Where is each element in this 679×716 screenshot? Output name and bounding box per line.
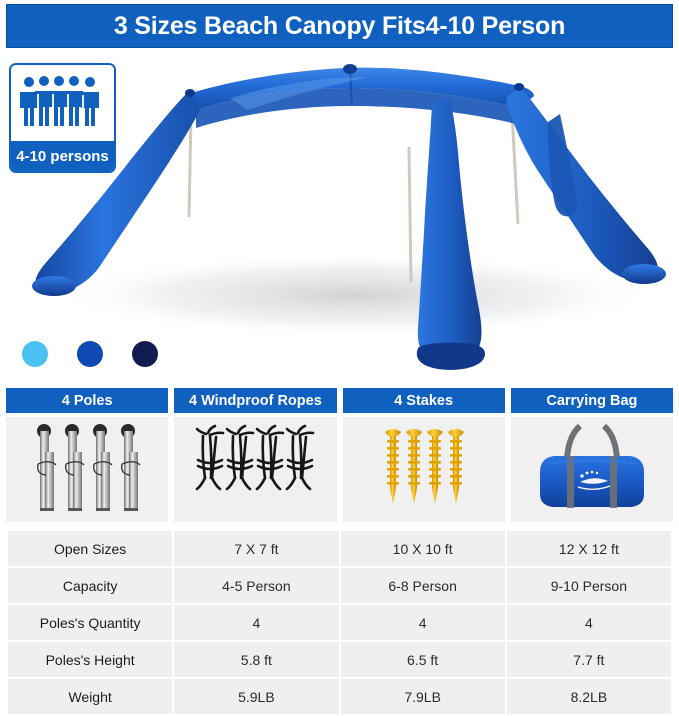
capacity-badge: 4-10 persons [9,63,116,173]
spec-cell: 5.8 ft [173,641,339,678]
color-swatch-navy-blue[interactable] [132,341,158,367]
accessory-image-poles [6,417,168,522]
spec-cell: 7 X 7 ft [173,530,339,567]
support-pole-back-left [189,115,191,217]
sand-anchor-foot-center [417,343,485,370]
spec-cell: 6.5 ft [340,641,506,678]
canopy-leg-front-center [418,100,482,361]
table-row: Poles's Quantity 4 4 4 [7,604,672,641]
telescoping-poles-icon [27,422,147,518]
accessory-image-ropes [174,417,336,522]
spec-cell: 4 [506,604,672,641]
header-banner: 3 Sizes Beach Canopy Fits4-10 Person [6,4,673,48]
canopy-grommet-left [185,89,195,97]
spec-cell: 4 [173,604,339,641]
specs-section: 4 Poles 4 Windproof Ropes 4 Stakes Carry… [6,388,673,692]
bag-strap-left [567,456,574,508]
accessory-header-ropes: 4 Windproof Ropes [174,388,336,413]
support-pole-center [409,147,411,282]
coiled-ropes-icon [190,424,320,516]
canopy-grommet-right [514,83,524,91]
spec-cell: 9-10 Person [506,567,672,604]
capacity-badge-label: 4-10 persons [11,141,114,171]
spec-cell: 10 X 10 ft [340,530,506,567]
accessory-image-bag [511,417,673,522]
product-infographic: 3 Sizes Beach Canopy Fits4-10 Person [0,0,679,698]
color-swatch-list [22,341,158,367]
sand-anchor-foot-right [622,264,666,284]
spec-row-label: Poles's Quantity [7,604,173,641]
canopy-leg-right [506,86,658,281]
spec-cell: 4 [340,604,506,641]
ground-shadow [55,253,655,337]
spec-row-label: Capacity [7,567,173,604]
specification-table: Open Sizes 7 X 7 ft 10 X 10 ft 12 X 12 f… [6,529,673,716]
bag-strap-right [610,456,617,508]
table-row: Open Sizes 7 X 7 ft 10 X 10 ft 12 X 12 f… [7,530,672,567]
page-title: 3 Sizes Beach Canopy Fits4-10 Person [114,12,565,41]
spec-cell: 4-5 Person [173,567,339,604]
accessory-image-stakes [343,417,505,522]
accessory-image-row [6,417,673,522]
spec-row-label: Open Sizes [7,530,173,567]
spec-cell: 6-8 Person [340,567,506,604]
capacity-badge-image [11,65,114,141]
spec-cell: 12 X 12 ft [506,530,672,567]
spec-cell: 7.9LB [340,678,506,715]
spec-cell: 5.9LB [173,678,339,715]
group-of-people-icon [17,74,109,132]
duffel-bag-icon [522,420,662,520]
table-row: Weight 5.9LB 7.9LB 8.2LB [7,678,672,715]
spec-cell: 8.2LB [506,678,672,715]
table-row: Poles's Height 5.8 ft 6.5 ft 7.7 ft [7,641,672,678]
accessory-header-bag: Carrying Bag [511,388,673,413]
spec-row-label: Weight [7,678,173,715]
spec-cell: 7.7 ft [506,641,672,678]
screw-stakes-icon [379,426,469,514]
accessory-header-poles: 4 Poles [6,388,168,413]
table-row: Capacity 4-5 Person 6-8 Person 9-10 Pers… [7,567,672,604]
accessory-header-row: 4 Poles 4 Windproof Ropes 4 Stakes Carry… [6,388,673,413]
color-swatch-light-blue[interactable] [22,341,48,367]
color-swatch-royal-blue[interactable] [77,341,103,367]
spec-row-label: Poles's Height [7,641,173,678]
canopy-peak-cap [343,64,357,74]
accessory-header-stakes: 4 Stakes [343,388,505,413]
sand-anchor-foot-left [32,276,76,296]
